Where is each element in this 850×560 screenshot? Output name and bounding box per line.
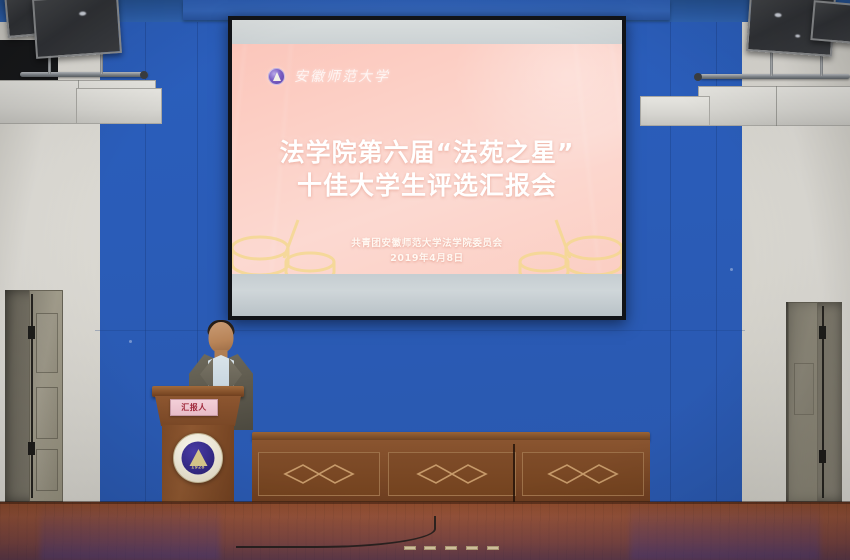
door-cable-box	[819, 326, 826, 339]
door-panel	[36, 313, 58, 373]
projection-screen: 安徽师范大学 法学院第六届“法苑之星” 十佳大学生评选汇报会 共青团安徽师范大学…	[228, 16, 626, 320]
door-cable-box	[819, 450, 826, 463]
side-door-left[interactable]	[5, 290, 63, 502]
presentation-slide: 安徽师范大学 法学院第六届“法苑之星” 十佳大学生评选汇报会 共青团安徽师范大学…	[232, 44, 622, 274]
monitor-mount-arm	[770, 50, 773, 76]
wall-seam	[670, 0, 671, 520]
table-front-body	[252, 440, 650, 506]
table-panel	[258, 452, 380, 496]
door-panel	[36, 449, 58, 491]
podium-column: 1928	[162, 425, 234, 503]
slide-title-line-2: 十佳大学生评选汇报会	[232, 169, 622, 202]
rail-end-cap	[694, 73, 702, 81]
auditorium-scene: 安徽师范大学 法学院第六届“法苑之星” 十佳大学生评选汇报会 共青团安徽师范大学…	[0, 0, 850, 560]
screen-glint-icon	[79, 11, 86, 15]
table-panel-bowtie-icon	[283, 463, 355, 485]
stage-edge-line	[0, 501, 850, 504]
balcony-seam	[776, 86, 777, 126]
upper-balcony-panel-right2	[640, 96, 710, 126]
floor-reflection-left	[40, 502, 220, 560]
podium-emblem: 1928	[173, 433, 223, 483]
screen-glint-icon	[795, 34, 800, 37]
floor-tape-marker	[445, 546, 457, 550]
gavel-decoration-icon	[508, 218, 622, 274]
slide-title: 法学院第六届“法苑之星” 十佳大学生评选汇报会	[232, 136, 622, 202]
table-panel-bowtie-icon	[416, 463, 488, 485]
screen-glint-icon	[774, 13, 781, 17]
door-panel	[794, 363, 814, 415]
ceiling-rail	[20, 72, 148, 77]
gavel-decoration-icon	[232, 218, 346, 274]
door-panel	[36, 387, 58, 439]
podium-emblem-year: 1928	[191, 466, 205, 471]
ceiling-rail	[700, 74, 850, 79]
door-cable-box	[28, 326, 35, 339]
podium: 汇报人 1928	[152, 386, 244, 518]
table-panel-bowtie-icon	[547, 463, 619, 485]
floor-tape-marker	[404, 546, 416, 550]
ceiling-monitor-left	[32, 0, 122, 59]
floor-tape-marker	[487, 546, 499, 550]
university-wordmark: 安徽师范大学	[294, 66, 390, 86]
side-door-right[interactable]	[786, 302, 842, 502]
podium-emblem-disc: 1928	[182, 442, 215, 475]
presenter-head	[209, 322, 234, 353]
slide-logo: 安徽师范大学	[268, 66, 390, 86]
podium-sign-label: 汇报人	[181, 402, 207, 413]
floor-tape-marker	[466, 546, 478, 550]
door-cable	[31, 294, 33, 498]
rail-end-cap	[140, 71, 148, 79]
table-panel	[388, 452, 516, 496]
floor-reflection-right	[630, 502, 820, 560]
podium-sign: 汇报人	[170, 399, 218, 416]
ceiling-monitor-far-right	[810, 0, 850, 44]
projection-screen-surface: 安徽师范大学 法学院第六届“法苑之星” 十佳大学生评选汇报会 共青团安徽师范大学…	[232, 20, 622, 316]
door-leaf-right[interactable]	[788, 302, 818, 502]
wall-mark	[129, 340, 132, 343]
floor-tape-marker	[424, 546, 436, 550]
screen-top-band	[232, 20, 622, 44]
upper-balcony-panel-left2	[76, 88, 162, 124]
upper-balcony-panel-right	[698, 86, 850, 126]
university-seal-icon	[268, 68, 285, 85]
wall-mark	[730, 268, 733, 271]
slide-title-line-1: 法学院第六届“法苑之星”	[232, 136, 622, 169]
podium-emblem-figure-icon	[189, 449, 207, 466]
podium-top	[152, 386, 244, 397]
door-cable-box	[28, 442, 35, 455]
screen-bottom-band	[232, 270, 622, 316]
table-panel	[522, 452, 644, 496]
door-leaf-left[interactable]	[29, 290, 63, 502]
